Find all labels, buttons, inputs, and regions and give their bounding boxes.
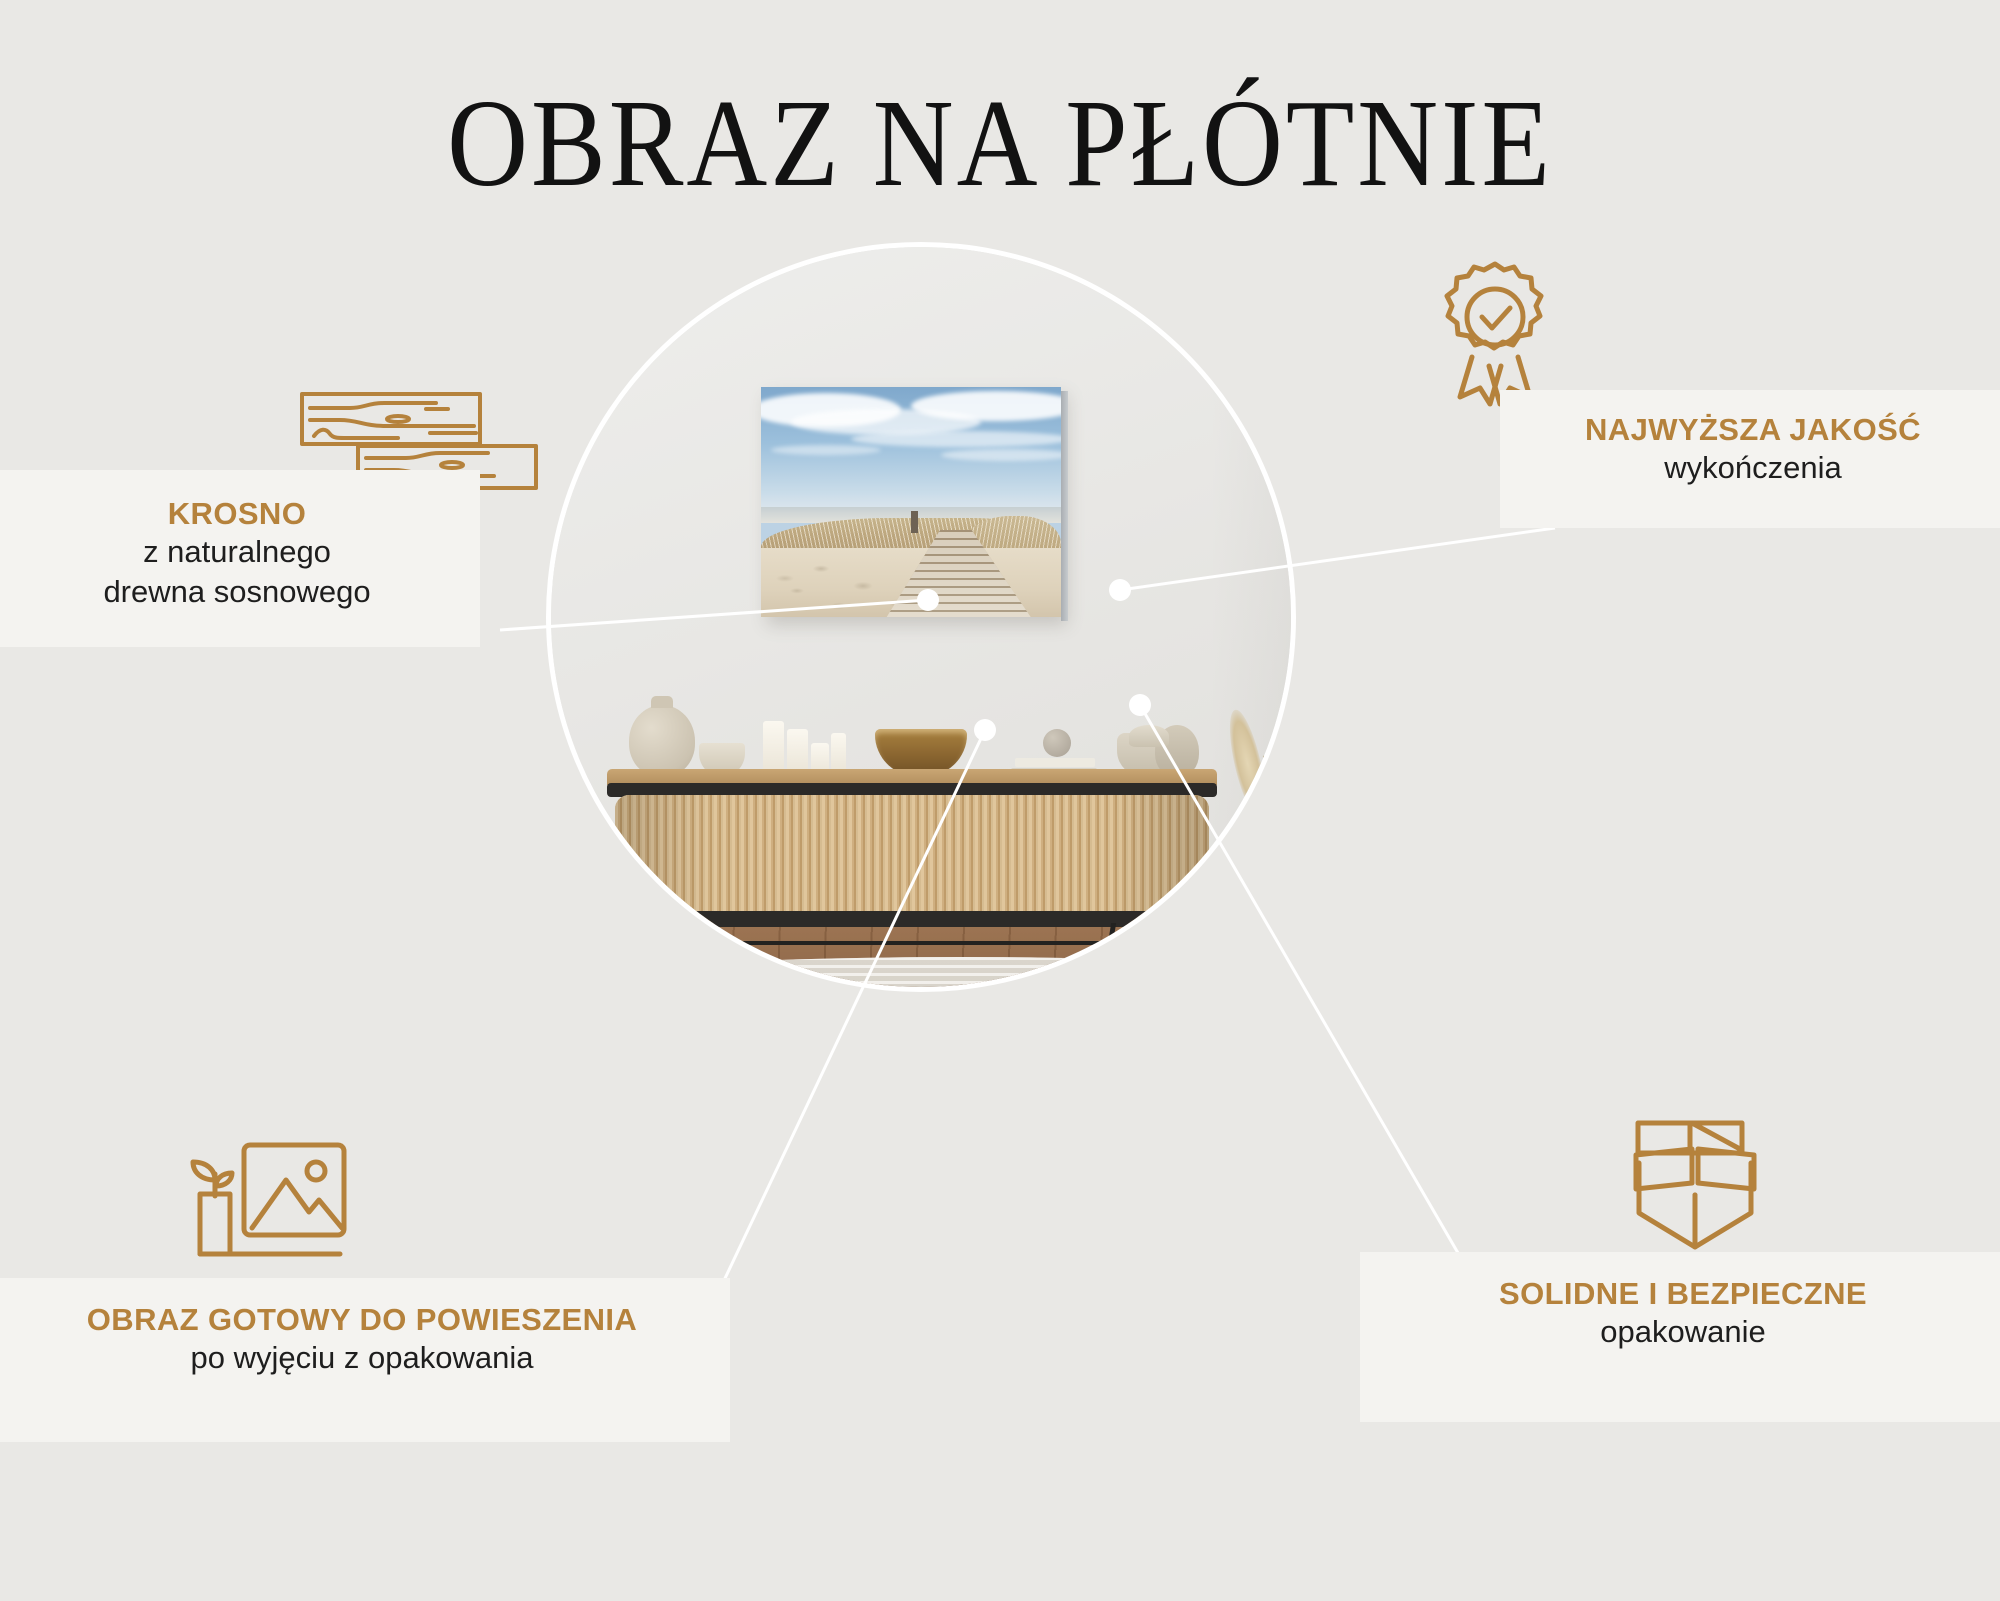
card-opakowanie: SOLIDNE I BEZPIECZNE opakowanie (1360, 1252, 2000, 1422)
cloud (941, 449, 1061, 461)
card-jakosc-sub-1: wykończenia (1536, 448, 1970, 488)
card-gotowy-sub-1: po wyjęciu z opakowania (30, 1338, 694, 1378)
cardboard-box-icon (1630, 1115, 1760, 1260)
sideboard-shading (615, 795, 1209, 923)
sideboard-rail (667, 941, 1159, 945)
room-scene-circle (551, 247, 1291, 987)
page-title: OBRAZ NA PŁÓTNIE (0, 72, 2000, 216)
card-gotowy: OBRAZ GOTOWY DO POWIESZENIA po wyjęciu z… (0, 1278, 730, 1442)
cloud (851, 431, 1061, 447)
sideboard-frame-bottom (611, 911, 1213, 927)
framed-picture-icon (160, 1140, 360, 1280)
card-krosno-sub-2: drewna sosnowego (30, 572, 444, 612)
pampas-vase (1247, 795, 1291, 947)
card-jakosc: NAJWYŻSZA JAKOŚĆ wykończenia (1500, 390, 2000, 528)
book (1015, 758, 1095, 767)
woven-basket (551, 899, 585, 955)
canvas-artwork (761, 387, 1061, 617)
fluted-sideboard (607, 769, 1217, 949)
card-opakowanie-title: SOLIDNE I BEZPIECZNE (1396, 1276, 1970, 1312)
card-krosno: KROSNO z naturalnego drewna sosnowego (0, 470, 480, 647)
artwork-sky (761, 387, 1061, 511)
room-photo (551, 247, 1291, 987)
stone-ball (1043, 729, 1071, 757)
card-krosno-sub-1: z naturalnego (30, 532, 444, 572)
cloud (771, 445, 881, 455)
ceramic-pot (1129, 725, 1169, 747)
decor-group (607, 685, 1217, 777)
ceramic-vase (629, 705, 695, 777)
card-krosno-title: KROSNO (30, 496, 444, 532)
sideboard-body (615, 795, 1209, 923)
card-opakowanie-sub-1: opakowanie (1396, 1312, 1970, 1352)
canvas-wrap-edge (1061, 391, 1068, 621)
infographic-root: OBRAZ NA PŁÓTNIE (0, 0, 2000, 1601)
artwork-post (911, 511, 918, 533)
card-gotowy-title: OBRAZ GOTOWY DO POWIESZENIA (30, 1302, 694, 1338)
card-jakosc-title: NAJWYŻSZA JAKOŚĆ (1536, 412, 1970, 448)
